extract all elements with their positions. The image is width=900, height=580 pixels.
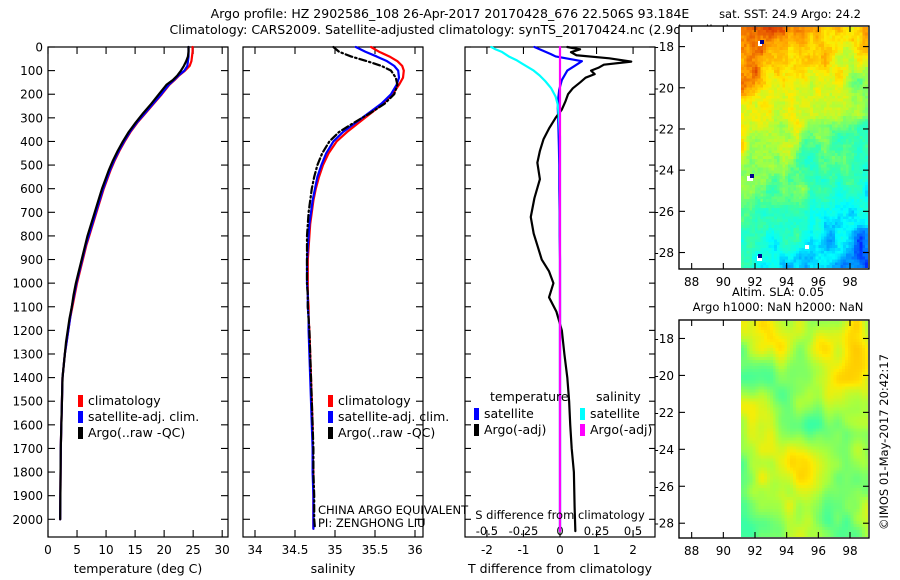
x-tick-label: 35.5 (362, 543, 389, 557)
x-tick-label: 30 (215, 543, 230, 557)
map-y-tick-label: -20 (654, 81, 674, 95)
series-satellite-adj-clim- (307, 47, 399, 529)
sla-map-title-line1: Altim. SLA: 0.05 (732, 285, 824, 299)
masked-pixel (758, 254, 762, 258)
salinity-plot-frame (243, 47, 423, 537)
bottom-x-tick-label: -2 (481, 543, 493, 557)
x-tick-label: 34.5 (282, 543, 309, 557)
depth-tick-label: 600 (20, 182, 43, 196)
map-y-tick-label: -18 (654, 40, 674, 54)
depth-tick-label: 1200 (12, 324, 43, 338)
map-x-tick-label: 98 (842, 275, 857, 289)
top-x-tick-label: 0.25 (584, 524, 610, 538)
salinity-curves (307, 47, 404, 529)
x-tick-label: 35 (327, 543, 342, 557)
depth-tick-label: 1400 (12, 371, 43, 385)
legend-swatch (78, 395, 83, 407)
map-y-tick-label: -28 (654, 246, 674, 260)
sst-map-title: sat. SST: 24.9 Argo: 24.2 (719, 7, 861, 21)
difference-panel: -2-1012 -0.5-0.2500.250.5 S difference f… (465, 47, 655, 576)
map-x-tick-label: 88 (684, 275, 699, 289)
sla-map-title-line2: Argo h1000: NaN h2000: NaN (693, 300, 864, 314)
depth-tick-label: 400 (20, 135, 43, 149)
map-y-tick-label: -26 (654, 205, 674, 219)
map-x-tick-label: 90 (716, 275, 731, 289)
depth-tick-label: 900 (20, 253, 43, 267)
salinity-y-axis-ticks (243, 47, 423, 519)
map-y-tick-label: -24 (654, 164, 674, 178)
depth-tick-label: 1100 (12, 300, 43, 314)
legend-group-label: salinity (596, 389, 641, 404)
depth-tick-label: 1800 (12, 466, 43, 480)
sla-map-panel: Altim. SLA: 0.05 Argo h1000: NaN h2000: … (654, 285, 869, 558)
legend-label: Argo(-adj) (484, 422, 546, 437)
bottom-x-tick-label: 2 (629, 543, 637, 557)
bottom-x-tick-label: -1 (517, 543, 529, 557)
depth-tick-label: 700 (20, 206, 43, 220)
legend-label: satellite-adj. clim. (338, 409, 449, 424)
masked-pixel (805, 245, 809, 249)
sst-map-field (741, 27, 869, 269)
legend-swatch (78, 427, 83, 439)
salinity-x-axis-ticks: 3434.53535.536 (247, 47, 422, 557)
map-y-tick-label: -22 (654, 122, 674, 136)
top-x-tick-label: -0.5 (476, 524, 498, 538)
figure-canvas: 0100200300400500600700800900100011001200… (0, 0, 900, 580)
depth-tick-label: 2000 (12, 513, 43, 527)
depth-tick-label: 1600 (12, 418, 43, 432)
masked-pixel (750, 174, 754, 178)
legend-label: satellite (484, 406, 534, 421)
legend-swatch (328, 411, 333, 423)
depth-tick-label: 1300 (12, 347, 43, 361)
bottom-x-tick-label: 1 (593, 543, 601, 557)
series-temperature-argo-adj- (531, 47, 631, 531)
legend-swatch (328, 395, 333, 407)
masked-pixel (760, 40, 764, 44)
top-x-tick-label: -0.25 (509, 524, 539, 538)
x-tick-label: 10 (98, 543, 113, 557)
x-tick-label: 5 (73, 543, 81, 557)
salinity-x-axis-label: salinity (311, 561, 356, 576)
x-tick-label: 15 (127, 543, 142, 557)
series-climatology (308, 47, 404, 529)
x-tick-label: 0 (44, 543, 52, 557)
sla-map-field (741, 321, 869, 537)
project-annotation-line2: PI: ZENGHONG LIU (318, 516, 426, 530)
legend-label: climatology (88, 393, 161, 408)
legend-swatch (580, 408, 585, 420)
depth-tick-label: 1000 (12, 277, 43, 291)
series-salinity-satellite (491, 47, 560, 531)
series-argo-raw-qc- (307, 47, 397, 529)
x-tick-label: 34 (247, 543, 262, 557)
depth-tick-label: 1900 (12, 489, 43, 503)
x-tick-label: 36 (407, 543, 422, 557)
x-tick-label: 20 (156, 543, 171, 557)
difference-top-axis-label: S difference from climatology (475, 508, 645, 522)
depth-tick-label: 0 (35, 41, 43, 55)
difference-legend: temperaturesatelliteArgo(-adj)salinitysa… (474, 389, 652, 437)
sst-map-panel: sat. SST: 24.9 Argo: 24.2 889092949698-1… (654, 7, 869, 289)
temperature-panel: 0100200300400500600700800900100011001200… (12, 41, 229, 577)
top-x-tick-label: 0.5 (624, 524, 642, 538)
depth-tick-label: 200 (20, 88, 43, 102)
legend-label: Argo(-adj) (590, 422, 652, 437)
depth-tick-label: 1500 (12, 395, 43, 409)
depth-tick-label: 1700 (12, 442, 43, 456)
legend-swatch (78, 411, 83, 423)
depth-tick-label: 100 (20, 64, 43, 78)
legend-label: satellite-adj. clim. (88, 409, 199, 424)
legend-label: Argo(..raw -QC) (88, 425, 185, 440)
depth-tick-label: 500 (20, 159, 43, 173)
legend-label: Argo(..raw -QC) (338, 425, 435, 440)
difference-curves (491, 47, 631, 531)
legend-label: satellite (590, 406, 640, 421)
legend-swatch (474, 408, 479, 420)
depth-tick-label: 300 (20, 111, 43, 125)
salinity-legend: climatologysatellite-adj. clim.Argo(..ra… (328, 393, 449, 440)
legend-label: climatology (338, 393, 411, 408)
legend-swatch (474, 424, 479, 436)
difference-bottom-axis-label: T difference from climatology (467, 561, 653, 576)
legend-group-label: temperature (490, 389, 569, 404)
salinity-panel: 3434.53535.536 salinity climatologysatel… (243, 47, 469, 576)
legend-swatch (580, 424, 585, 436)
depth-tick-label: 800 (20, 229, 43, 243)
legend-swatch (328, 427, 333, 439)
temperature-x-axis-label: temperature (deg C) (74, 561, 203, 576)
x-tick-label: 25 (186, 543, 201, 557)
bottom-x-tick-label: 0 (556, 543, 564, 557)
project-annotation-line1: CHINA ARGO EQUIVALENT (318, 503, 469, 517)
